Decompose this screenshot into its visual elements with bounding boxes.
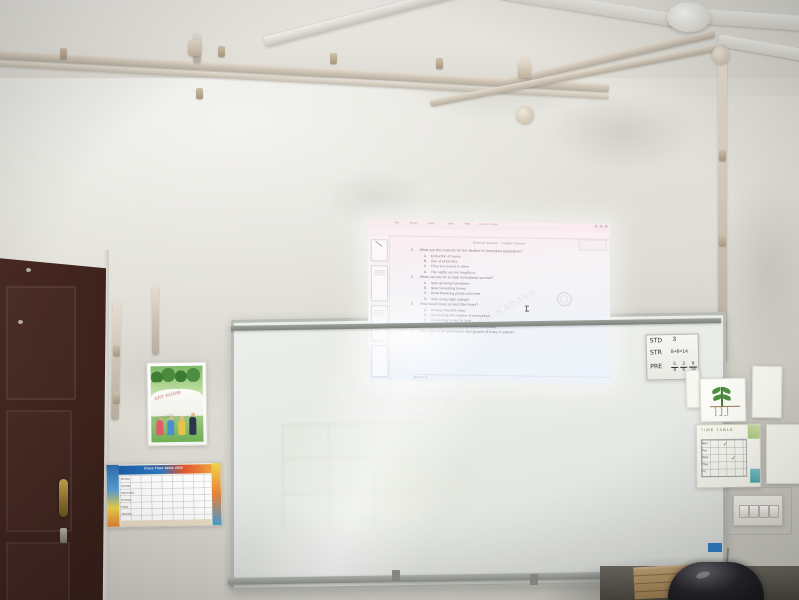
poster-child xyxy=(178,420,185,435)
option-text: Stop using night skylight xyxy=(431,297,469,302)
children-poster: ART ROOM LIBRARY xyxy=(146,362,207,447)
check-mark-icon: ✓ xyxy=(723,441,728,448)
fraction-denominator: 8 xyxy=(673,367,676,372)
menu-file[interactable]: File xyxy=(395,222,399,225)
timetable-corner-accent xyxy=(748,425,760,439)
minimize-icon[interactable] xyxy=(595,225,598,228)
poster-trees xyxy=(150,366,202,383)
wall-note-paper xyxy=(752,366,783,419)
slide-thumbnail-2[interactable] xyxy=(371,265,388,301)
lens-smudge xyxy=(560,295,568,303)
wall-paper-strip xyxy=(685,370,700,408)
question-number: 6. xyxy=(411,329,420,335)
timetable-corner-accent-2 xyxy=(750,469,760,483)
window-reflection xyxy=(282,422,420,529)
pipe-clip xyxy=(113,345,120,356)
question-number: 4. xyxy=(411,275,420,281)
timetable-day: Wednesday xyxy=(121,492,134,495)
slide-thumbnail-rail[interactable] xyxy=(368,235,391,380)
timetable-day: Saturday xyxy=(121,513,131,516)
door-stud xyxy=(26,268,31,272)
thumbnail-text-lines xyxy=(374,270,385,271)
slide-header: General Science - Chapter Review xyxy=(473,241,525,246)
pipe-round-box xyxy=(516,106,534,124)
timetable-day: Monday xyxy=(121,478,130,481)
timetable-poster: Class Time Table 2024 Monday Tuesday Wed… xyxy=(105,462,222,528)
text-cursor xyxy=(526,306,527,312)
pencil-icon xyxy=(375,241,382,247)
light-switch[interactable] xyxy=(739,505,749,518)
timetable-day: Thursday xyxy=(121,499,131,502)
conduit-pipe-mid-drop xyxy=(152,285,159,355)
pipe-junction xyxy=(188,40,201,56)
timetable-day: Friday xyxy=(121,506,128,509)
option-text: Use of pesticides xyxy=(431,259,458,263)
plant-roots xyxy=(715,407,728,416)
handwritten-timetable: TIME TABLE Mon Tue Wed Thur Fri ✓ ✓ xyxy=(696,424,762,489)
light-switch[interactable] xyxy=(769,505,779,518)
option-text: Start growing honeybees xyxy=(431,281,470,286)
plant-leaf xyxy=(721,387,731,394)
pipe-clip xyxy=(330,53,337,64)
classroom-scene: Question Bank File Home Insert View Help xyxy=(0,0,799,600)
poster-child xyxy=(189,417,196,435)
menu-insert[interactable]: Insert xyxy=(428,222,435,225)
question-number: 3. xyxy=(411,248,420,254)
pipe-round-box xyxy=(712,46,730,64)
pipe-clip xyxy=(60,48,67,59)
timetable-footer-text: School Education Department xyxy=(148,464,180,468)
option-text: The nights are too lengthy in xyxy=(431,270,476,275)
question-text: What are the reasons for the decline in … xyxy=(420,248,523,254)
htt-day: Wed xyxy=(702,455,708,459)
option-text: They are reared in cities xyxy=(431,264,469,269)
menu-home[interactable]: Home xyxy=(410,222,417,225)
htt-day: Thur xyxy=(702,462,708,466)
projection-window-title: Question Bank xyxy=(479,222,499,225)
whiteboard-clip xyxy=(392,570,400,581)
thumbnail-text-lines xyxy=(374,310,385,311)
option-text: Grow flowering plants and trees xyxy=(431,291,480,296)
slide-thumbnail-1[interactable] xyxy=(371,239,388,261)
door-lock[interactable] xyxy=(60,528,67,543)
pipe-clip xyxy=(113,392,120,403)
projected-presentation: Question Bank File Home Insert View Help xyxy=(368,220,611,384)
light-switch[interactable] xyxy=(759,505,769,518)
pipe-clip xyxy=(719,150,726,161)
poster-child xyxy=(167,420,174,435)
door-panel xyxy=(6,286,76,400)
option-text: Extraction of honey xyxy=(431,254,461,258)
door-stud xyxy=(18,320,23,324)
question-text: What can we do to help honeybees survive… xyxy=(420,275,494,280)
option-text: Stop harvesting honey xyxy=(431,286,466,291)
helmet-highlight xyxy=(695,570,710,580)
htt-day: Mon xyxy=(702,441,708,445)
pipe-clip xyxy=(196,88,203,99)
classroom-door[interactable] xyxy=(0,258,106,600)
wall-note-paper-right xyxy=(766,424,799,484)
light-switch[interactable] xyxy=(749,505,759,518)
check-mark-icon: ✓ xyxy=(731,455,736,462)
wall-switch-plate[interactable] xyxy=(733,495,783,526)
slide-thumbnail-4[interactable] xyxy=(371,345,388,377)
htt-day: Fri xyxy=(702,469,706,473)
menu-view[interactable]: View xyxy=(448,223,454,226)
window-controls[interactable] xyxy=(595,225,608,228)
handwritten-timetable-title: TIME TABLE xyxy=(701,427,734,432)
plant-leaf xyxy=(722,394,732,401)
attendance-str-label: STR xyxy=(650,349,662,356)
pipe-clip xyxy=(436,58,443,69)
htt-day: Tue xyxy=(702,448,707,452)
pipe-junction xyxy=(518,62,531,78)
door-panel xyxy=(6,542,70,600)
question-number: 5. xyxy=(411,302,420,308)
poster-right-border xyxy=(211,463,221,525)
blue-sticker xyxy=(708,543,722,552)
close-icon[interactable] xyxy=(605,225,608,228)
attendance-std-value: 3 xyxy=(673,336,677,343)
attendance-str-value: 8+6=14 xyxy=(671,349,688,355)
ceiling-fan-hub xyxy=(667,2,711,32)
pipe-clip xyxy=(719,235,726,246)
attendance-pre-fraction-a: 5 8 xyxy=(671,362,678,372)
timetable-grid xyxy=(120,474,212,521)
attendance-pre-label: PRE xyxy=(650,363,662,370)
timetable-day: Tuesday xyxy=(121,485,131,488)
maximize-icon[interactable] xyxy=(600,225,603,228)
question-text: How would bees protect the hives? xyxy=(420,302,478,307)
poster-left-border xyxy=(106,465,119,527)
pipe-clip xyxy=(218,46,225,57)
whiteboard-clip xyxy=(530,574,538,585)
attendance-std-label: STD xyxy=(650,337,663,344)
option-text: Driving intruders away xyxy=(431,308,466,313)
slide-status-text: Slide 3 of 12 xyxy=(413,376,427,379)
door-handle[interactable] xyxy=(59,479,68,517)
slide-canvas: General Science - Chapter Review 3.What … xyxy=(389,237,611,383)
menu-help[interactable]: Help xyxy=(465,223,471,226)
plant-diagram-poster xyxy=(700,378,747,423)
timetable-footer-band xyxy=(120,519,211,527)
